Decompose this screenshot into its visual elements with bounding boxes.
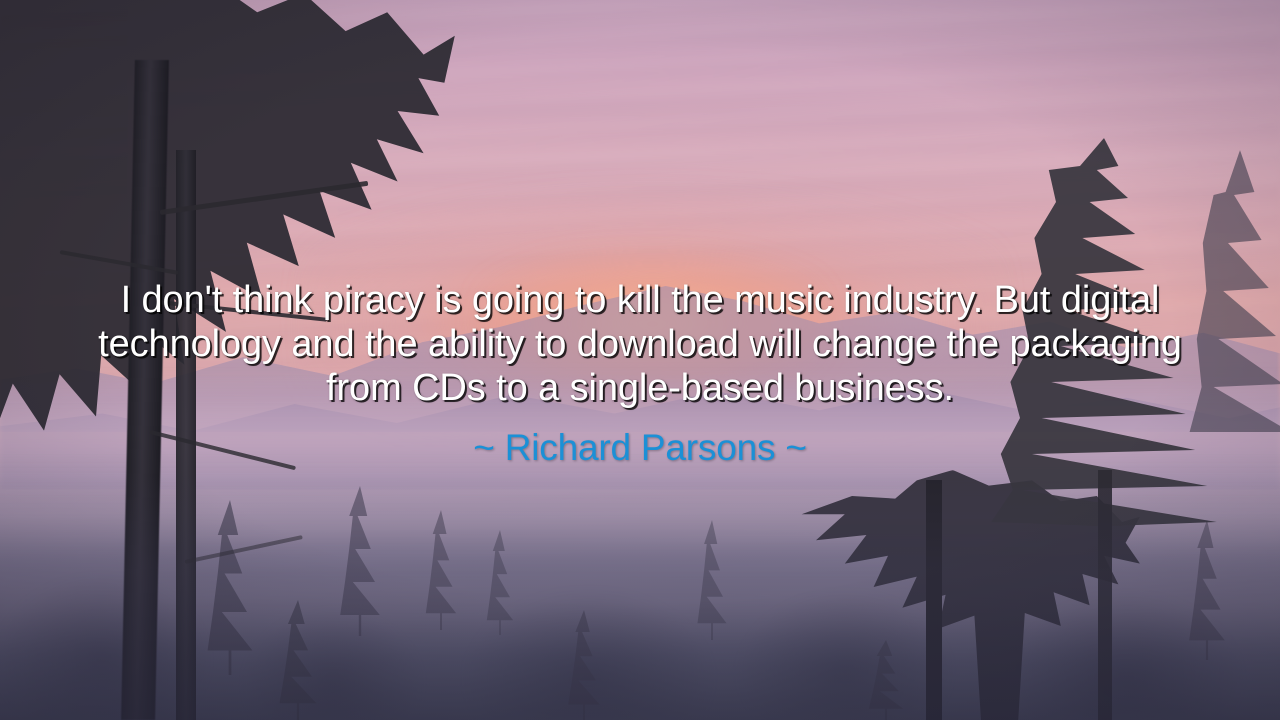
quote-text: I don't think piracy is going to kill th… bbox=[90, 278, 1190, 410]
ground-shadow bbox=[0, 475, 1280, 720]
quote-author: ~ Richard Parsons ~ bbox=[473, 426, 806, 470]
quote-overlay: I don't think piracy is going to kill th… bbox=[0, 278, 1280, 470]
quote-image-canvas: I don't think piracy is going to kill th… bbox=[0, 0, 1280, 720]
